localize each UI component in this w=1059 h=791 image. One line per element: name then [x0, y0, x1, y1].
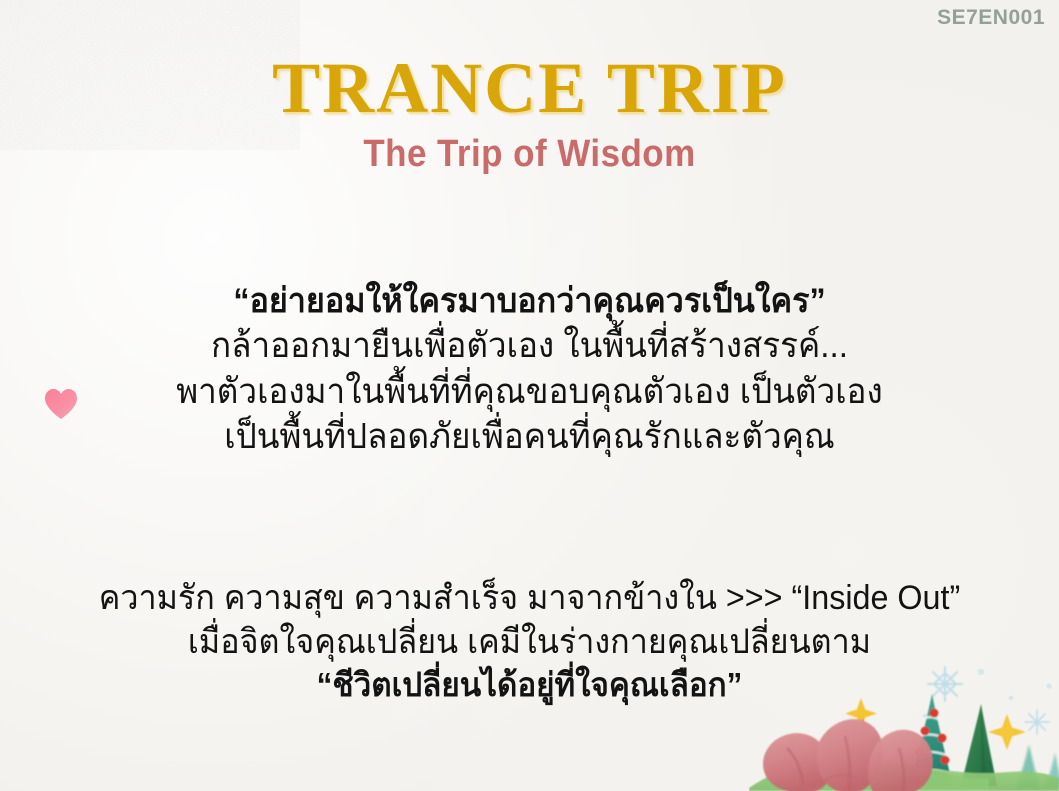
tree-ornament	[911, 709, 952, 785]
watercolor-flower	[763, 719, 933, 791]
christmas-tree	[910, 694, 953, 786]
body-line: “ชีวิตเปลี่ยนได้อยู่ที่ใจคุณเลือก”	[26, 664, 1032, 707]
body-line: กล้าออกมายืนเพื่อตัวเอง ในพื้นที่สร้างสร…	[26, 323, 1032, 369]
page-title: TRANCE TRIP	[0, 52, 1059, 124]
heart-icon	[44, 388, 78, 420]
page-subtitle: The Trip of Wisdom	[42, 134, 1016, 176]
body-line: เป็นพื้นที่ปลอดภัยเพื่อคนที่คุณรักและตัว…	[26, 414, 1032, 460]
paragraph-two: ความรัก ความสุข ความสำเร็จ มาจากข้างใน >…	[0, 576, 1059, 707]
evergreen-tree	[850, 704, 997, 786]
small-tree	[1016, 744, 1059, 788]
body-line: “อย่ายอมให้ใครมาบอกว่าคุณควรเป็นใคร”	[26, 279, 1032, 323]
title-block: TRANCE TRIP The Trip of Wisdom	[0, 52, 1059, 176]
paragraph-one: “อย่ายอมให้ใครมาบอกว่าคุณควรเป็นใคร” กล้…	[0, 279, 1059, 460]
body-line: ความรัก ความสุข ความสำเร็จ มาจากข้างใน >…	[26, 576, 1032, 620]
watermark-label: SE7EN001	[937, 6, 1045, 30]
body-line: เมื่อจิตใจคุณเปลี่ยน เคมีในร่างกายคุณเปล…	[26, 620, 1032, 664]
body-line: พาตัวเองมาในพื้นที่ที่คุณขอบคุณตัวเอง เป…	[26, 369, 1032, 415]
poster-canvas: SE7EN001 TRANCE TRIP The Trip of Wisdom …	[0, 0, 1059, 791]
grass-hill	[749, 759, 1059, 791]
